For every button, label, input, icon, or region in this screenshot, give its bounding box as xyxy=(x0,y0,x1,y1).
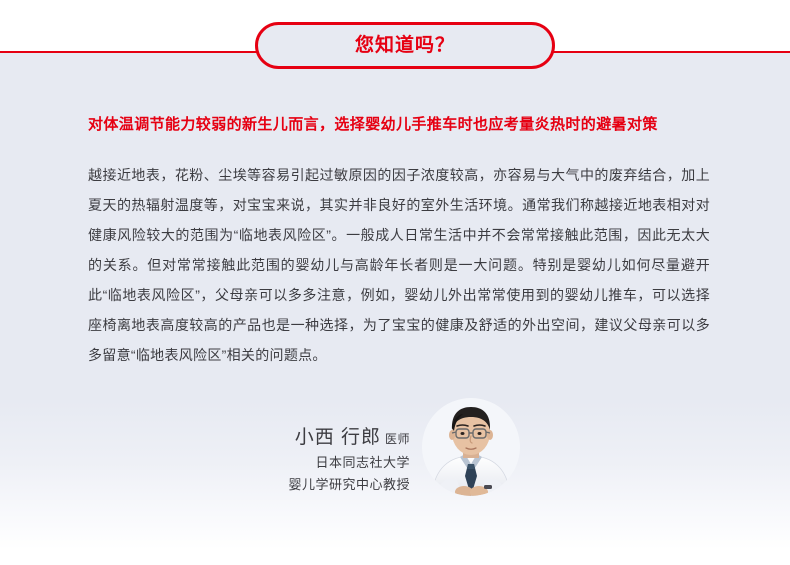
author-name: 小西 行郎 xyxy=(295,427,381,448)
author-block: 小西 行郎医师 日本同志社大学 婴儿学研究中心教授 xyxy=(150,425,550,535)
article-block: 对体温调节能力较弱的新生儿而言，选择婴幼儿手推车时也应考量炎热时的避暑对策 越接… xyxy=(88,112,710,370)
header-badge: 您知道吗？ xyxy=(255,22,555,69)
author-name-line: 小西 行郎医师 xyxy=(288,425,410,452)
author-portrait xyxy=(422,398,520,496)
doctor-portrait-icon xyxy=(422,398,520,496)
article-headline: 对体温调节能力较弱的新生儿而言，选择婴幼儿手推车时也应考量炎热时的避暑对策 xyxy=(88,112,710,138)
page-header: 您知道吗？ xyxy=(0,0,790,95)
author-title: 医师 xyxy=(381,432,410,446)
author-affiliation-line-2: 婴儿学研究中心教授 xyxy=(288,474,410,496)
article-body-text: 越接近地表，花粉、尘埃等容易引起过敏原因的因子浓度较高，亦容易与大气中的废弃结合… xyxy=(88,160,710,370)
header-badge-label: 您知道吗？ xyxy=(355,36,455,56)
author-affiliation-line-1: 日本同志社大学 xyxy=(288,452,410,474)
info-card-page: 您知道吗？ 对体温调节能力较弱的新生儿而言，选择婴幼儿手推车时也应考量炎热时的避… xyxy=(0,0,790,565)
author-text-group: 小西 行郎医师 日本同志社大学 婴儿学研究中心教授 xyxy=(288,425,410,496)
